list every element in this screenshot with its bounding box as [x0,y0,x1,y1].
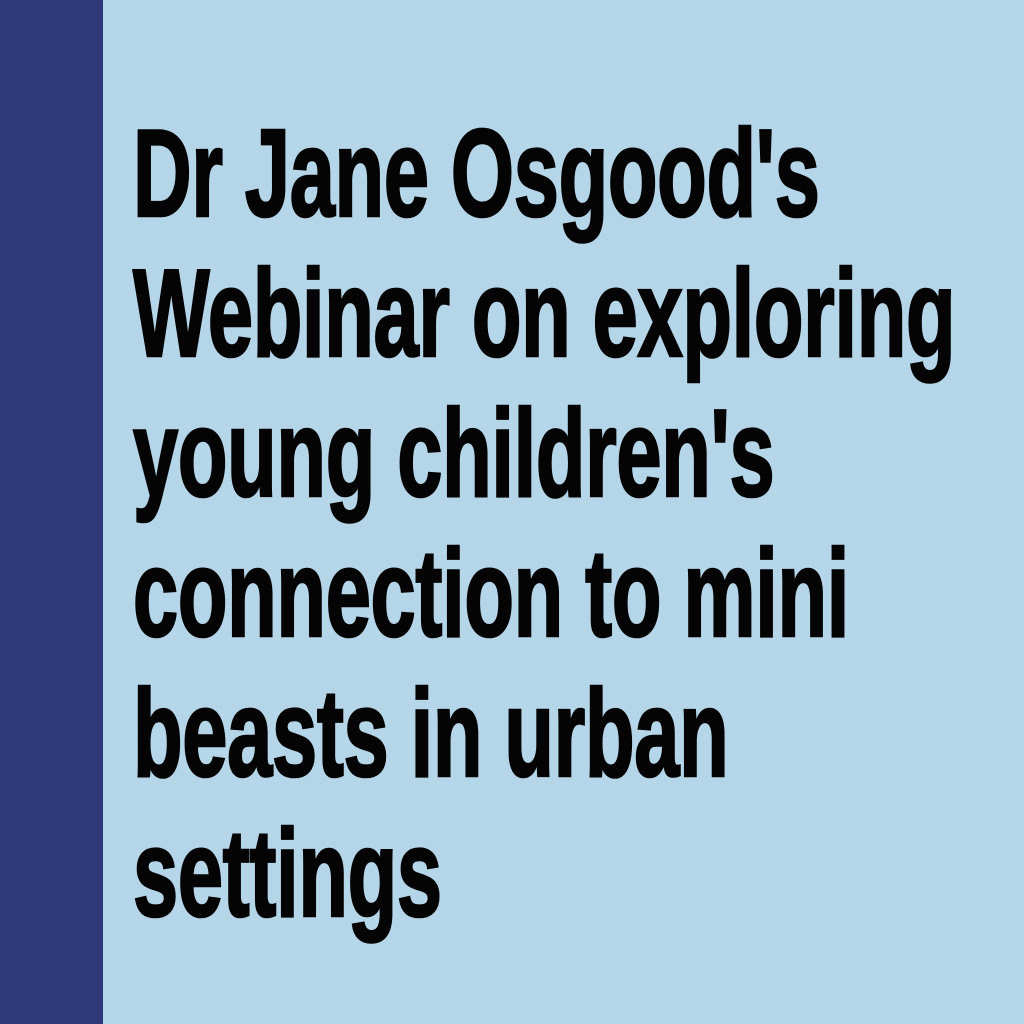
page-title: Dr Jane Osgood's Webinar on exploring yo… [133,104,993,944]
left-accent-bar [0,0,103,1024]
poster-canvas: Dr Jane Osgood's Webinar on exploring yo… [0,0,1024,1024]
title-line-6: settings [133,804,696,944]
title-line-1: Dr Jane Osgood's [133,104,696,244]
title-line-3: young children's [133,384,696,524]
title-line-4: connection to mini [133,524,696,664]
title-line-5: beasts in urban [133,664,696,804]
title-line-2: Webinar on exploring [133,244,696,384]
